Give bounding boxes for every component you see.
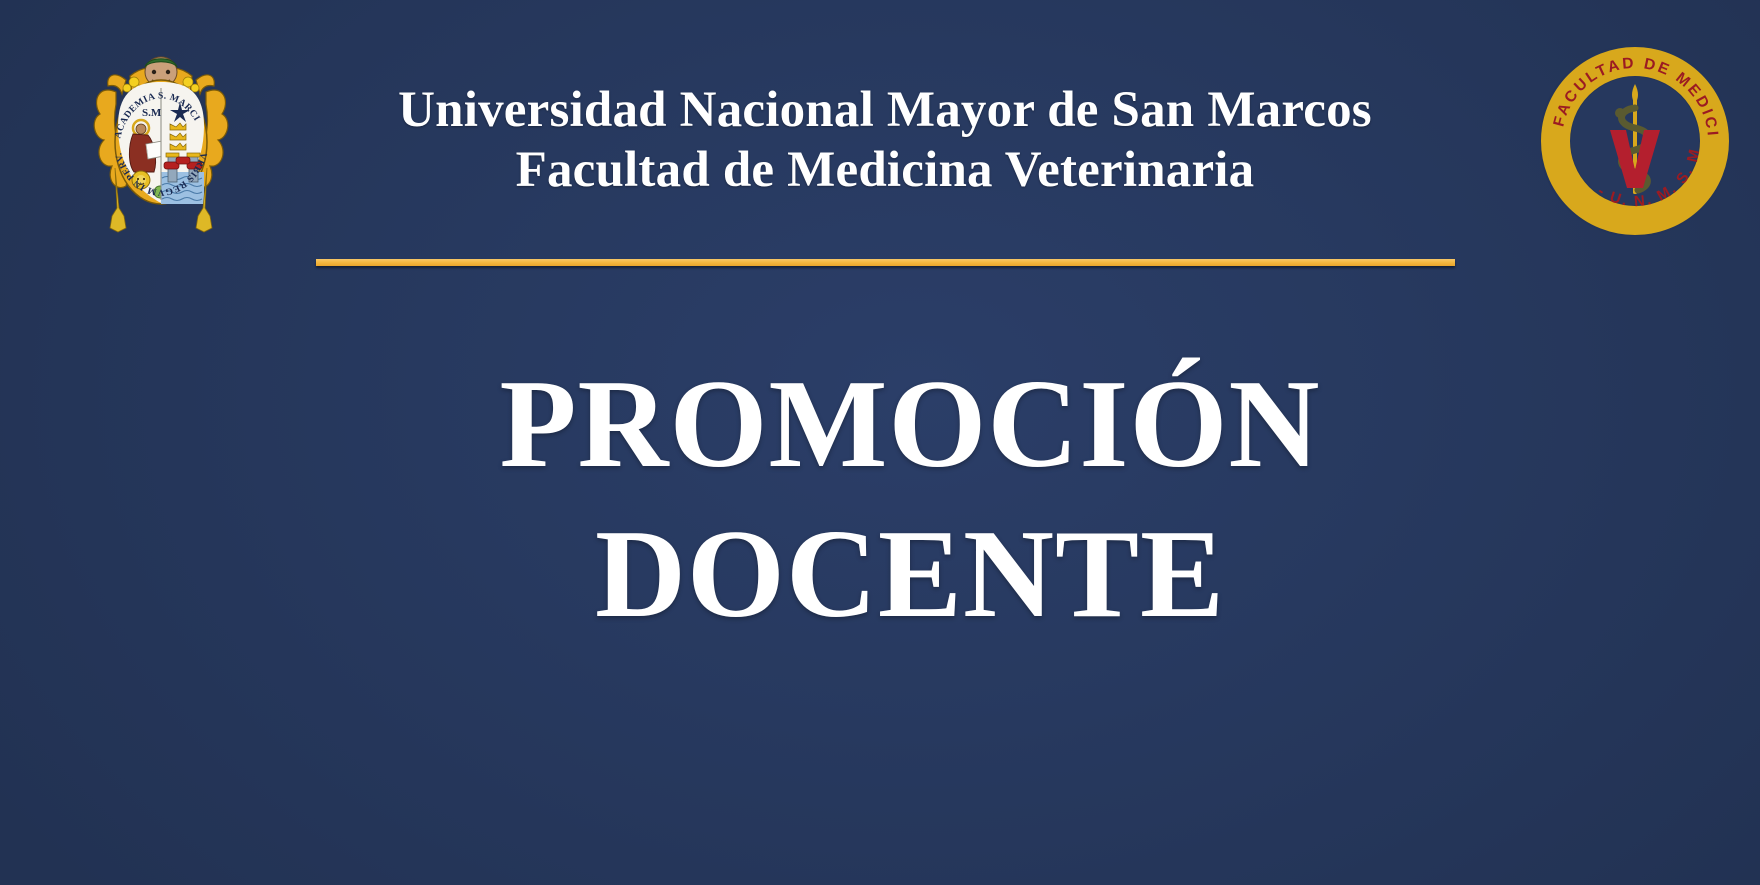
- slide-header: ACADEMIA S. MARCI VRBIS REGVM IN PERV. S…: [0, 0, 1760, 280]
- slide-canvas: ACADEMIA S. MARCI VRBIS REGVM IN PERV. S…: [0, 0, 1760, 885]
- university-name: Universidad Nacional Mayor de San Marcos: [250, 80, 1520, 140]
- svg-text:S.M: S.M: [142, 107, 162, 119]
- fmv-unmsm-seal-icon: FACULTAD DE MEDICINA VETERINARIA - U. N.…: [1540, 46, 1730, 236]
- institution-title: Universidad Nacional Mayor de San Marcos…: [250, 80, 1520, 200]
- faculty-name: Facultad de Medicina Veterinaria: [250, 140, 1520, 200]
- unmsm-coat-of-arms-icon: ACADEMIA S. MARCI VRBIS REGVM IN PERV. S…: [86, 40, 236, 240]
- gold-divider-rule: [316, 259, 1455, 266]
- headline-line-1: PROMOCIÓN: [60, 350, 1760, 500]
- headline-line-2: DOCENTE: [60, 500, 1760, 650]
- slide-headline: PROMOCIÓN DOCENTE: [0, 350, 1760, 650]
